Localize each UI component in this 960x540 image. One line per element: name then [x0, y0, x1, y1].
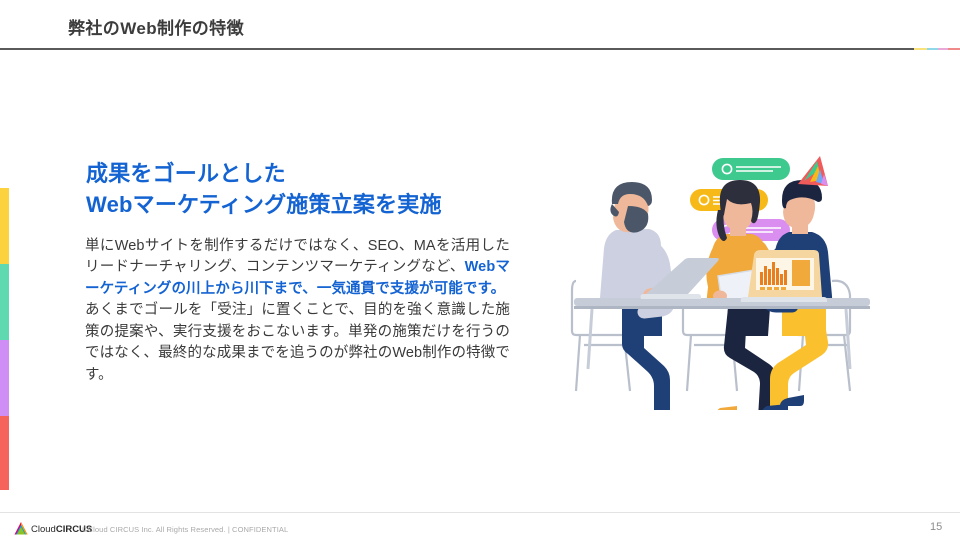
- header-divider-accent: [914, 48, 960, 50]
- edge-color-strips: [0, 188, 9, 490]
- footer-divider: [0, 512, 960, 513]
- headline-line-2: Webマーケティング施策立案を実施: [86, 189, 526, 220]
- team-meeting-illustration: [560, 148, 950, 410]
- edge-strip-red: [0, 416, 9, 490]
- footer-brand-light: Cloud: [31, 524, 56, 535]
- page-title: 弊社のWeb制作の特徴: [68, 14, 244, 39]
- slide: 弊社のWeb制作の特徴 成果をゴールとした Webマーケティング施策立案を実施 …: [0, 0, 960, 540]
- header-divider: [0, 48, 914, 50]
- laptop-right-with-chart: [741, 250, 827, 302]
- cloudcircus-logo-icon: [14, 522, 28, 536]
- page-number: 15: [930, 521, 942, 533]
- edge-strip-yellow: [0, 188, 9, 264]
- headline: 成果をゴールとした Webマーケティング施策立案を実施: [86, 158, 526, 220]
- footer-copyright: ©Cloud CIRCUS Inc. All Rights Reserved. …: [82, 525, 288, 534]
- edge-strip-teal: [0, 264, 9, 340]
- headline-line-1: 成果をゴールとした: [86, 161, 286, 186]
- body-copy: 単にWebサイトを制作するだけではなく、SEO、MAを活用したリードナーチャリン…: [85, 236, 510, 386]
- chat-bubble-green: [712, 158, 790, 180]
- paragraph-1-text: 単にWebサイトを制作するだけではなく、SEO、MAを活用したリードナーチャリン…: [85, 238, 510, 275]
- paragraph-1: 単にWebサイトを制作するだけではなく、SEO、MAを活用したリードナーチャリン…: [85, 236, 510, 300]
- paragraph-2: あくまでゴールを「受注」に置くことで、目的を強く意識した施策の提案や、実行支援を…: [85, 300, 510, 386]
- edge-strip-purple: [0, 340, 9, 416]
